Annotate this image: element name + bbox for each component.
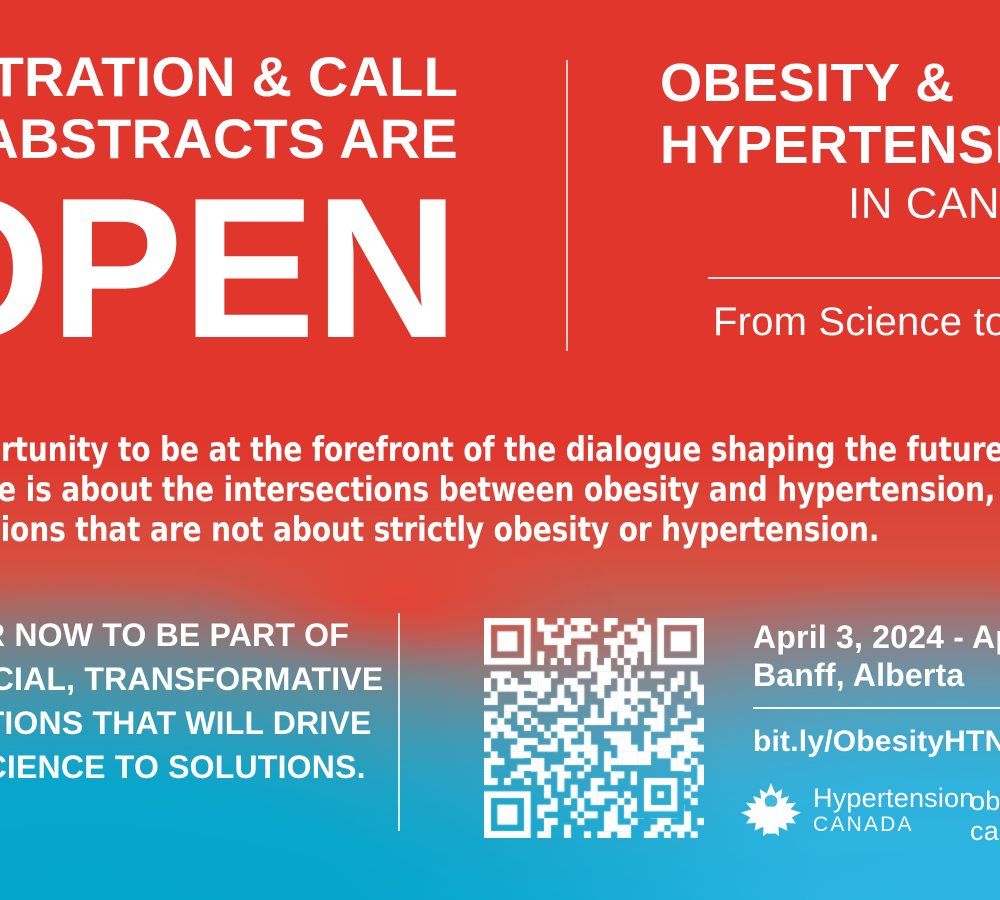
body-paragraph-line2: conference theme is about the intersecti… — [0, 472, 919, 512]
conference-title-rule — [708, 277, 1000, 279]
event-details-rule — [753, 707, 1000, 709]
registration-headline-line1: REGISTRATION & CALL — [0, 46, 458, 108]
event-location: Banff, Alberta — [753, 656, 1000, 694]
body-paragraph: This is your opportunity to be at the fo… — [0, 432, 1000, 552]
registration-headline: REGISTRATION & CALL FOR ABSTRACTS ARE OP… — [0, 46, 458, 354]
call-to-action-line1: REGISTER NOW TO BE PART OF — [0, 613, 349, 657]
header-vertical-divider — [566, 60, 568, 351]
body-paragraph-line3: abstract submissions that are not about … — [0, 512, 919, 552]
call-to-action-line3: CONVERSATIONS THAT WILL DRIVE — [0, 701, 349, 745]
conference-tagline: From Science to Solutions — [713, 300, 1000, 345]
logo-hc-name: Hypertension — [813, 785, 975, 812]
promo-poster: REGISTRATION & CALL FOR ABSTRACTS ARE OP… — [0, 0, 1000, 900]
registration-headline-open: OPEN — [0, 184, 458, 354]
call-to-action-line4: US FROM SCIENCE TO SOLUTIONS. — [0, 745, 349, 789]
logo-hc-country: CANADA — [813, 814, 975, 835]
event-date: April 3, 2024 - April 6, 2024 — [753, 618, 1000, 656]
call-to-action-text: REGISTER NOW TO BE PART OF THESE CRUCIAL… — [0, 613, 349, 789]
conference-title-line2: HYPERTENSION — [660, 114, 1000, 176]
logo-hypertension-canada-text: Hypertension CANADA — [813, 785, 975, 835]
footer-vertical-divider — [398, 613, 400, 831]
logo-oc-line1: obesity — [970, 786, 1000, 816]
qr-code-canvas[interactable] — [484, 618, 704, 838]
call-to-action-line2: THESE CRUCIAL, TRANSFORMATIVE — [0, 657, 349, 701]
conference-title: OBESITY & HYPERTENSION IN CANADA — [660, 52, 1000, 232]
logo-oc-line2: canada — [970, 816, 1000, 846]
logo-obesity-canada[interactable]: obesity canada — [970, 786, 1000, 846]
conference-title-line3: IN CANADA — [660, 176, 1000, 232]
maple-leaf-icon — [740, 782, 802, 838]
event-details: April 3, 2024 - April 6, 2024 Banff, Alb… — [753, 618, 1000, 694]
event-url-link[interactable]: bit.ly/ObesityHTN2024 — [753, 725, 1000, 759]
logo-hypertension-canada[interactable]: Hypertension CANADA — [740, 782, 975, 838]
qr-code[interactable] — [484, 618, 704, 838]
header-band: REGISTRATION & CALL FOR ABSTRACTS ARE OP… — [0, 0, 1000, 400]
body-paragraph-line1: This is your opportunity to be at the fo… — [0, 432, 919, 472]
conference-title-line1: OBESITY & — [660, 52, 1000, 114]
